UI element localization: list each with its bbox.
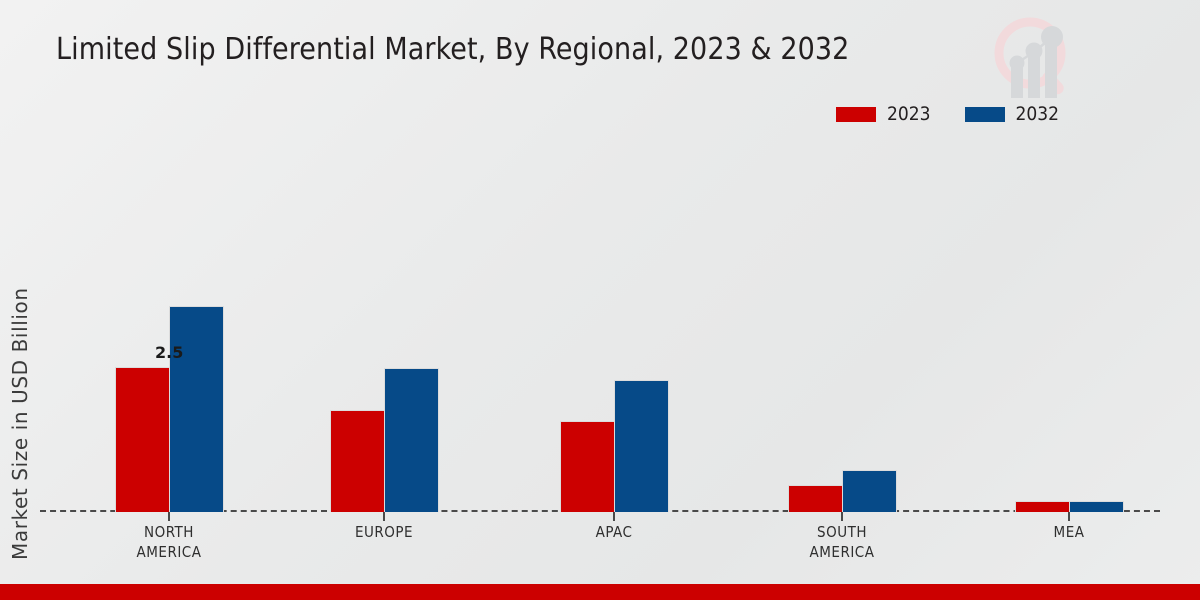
bar-2023-mea[interactable] [1015, 501, 1070, 512]
legend-item-2032[interactable]: 2032 [965, 105, 1060, 124]
bar-2023-south-america[interactable] [788, 485, 843, 512]
chart-legend: 2023 2032 [836, 103, 1059, 125]
bar-2032-mea[interactable] [1069, 501, 1124, 512]
bar-2023-europe[interactable] [330, 410, 385, 512]
magnifier-bar-chart-logo-icon [985, 8, 1081, 100]
bar-group-apac [560, 142, 668, 512]
x-label-europe: EUROPE [274, 522, 494, 542]
data-label-2023-north-america: 2.5 [155, 343, 183, 362]
bar-2032-north-america[interactable] [169, 306, 224, 512]
legend-label-2032: 2032 [1016, 105, 1060, 124]
bar-2023-apac[interactable] [560, 421, 615, 512]
bar-2032-europe[interactable] [384, 368, 439, 512]
bar-2023-north-america[interactable] [115, 367, 170, 512]
x-label-europe-line1: EUROPE [274, 522, 494, 542]
chart-title: Limited Slip Differential Market, By Reg… [56, 32, 849, 67]
bar-2032-south-america[interactable] [842, 470, 897, 512]
legend-swatch-2023 [836, 107, 876, 122]
legend-swatch-2032 [965, 107, 1005, 122]
x-tick-north-america [168, 512, 170, 521]
y-axis-title: Market Size in USD Billion [8, 0, 42, 560]
legend-label-2023: 2023 [887, 105, 931, 124]
x-label-south-america-line2: AMERICA [732, 542, 952, 562]
x-tick-europe [383, 512, 385, 521]
bar-group-south-america [788, 142, 896, 512]
x-label-mea: MEA [959, 522, 1179, 542]
x-label-apac: APAC [504, 522, 724, 542]
x-label-north-america-line2: AMERICA [59, 542, 279, 562]
x-label-north-america: NORTH AMERICA [59, 522, 279, 562]
chart-page: Limited Slip Differential Market, By Reg… [0, 0, 1200, 600]
x-tick-south-america [841, 512, 843, 521]
bar-2032-apac[interactable] [614, 380, 669, 512]
x-label-apac-line1: APAC [504, 522, 724, 542]
plot-area: 2.5 NORTH AMERICA EUROPE APAC [40, 140, 1160, 512]
x-label-north-america-line1: NORTH [59, 522, 279, 542]
bar-group-mea [1015, 142, 1123, 512]
x-label-south-america: SOUTH AMERICA [732, 522, 952, 562]
footer-accent-bar [0, 584, 1200, 600]
bar-group-europe [330, 142, 438, 512]
legend-item-2023[interactable]: 2023 [836, 105, 931, 124]
x-tick-apac [613, 512, 615, 521]
x-label-mea-line1: MEA [959, 522, 1179, 542]
x-tick-mea [1068, 512, 1070, 521]
bar-group-north-america: 2.5 [115, 142, 223, 512]
x-label-south-america-line1: SOUTH [732, 522, 952, 542]
